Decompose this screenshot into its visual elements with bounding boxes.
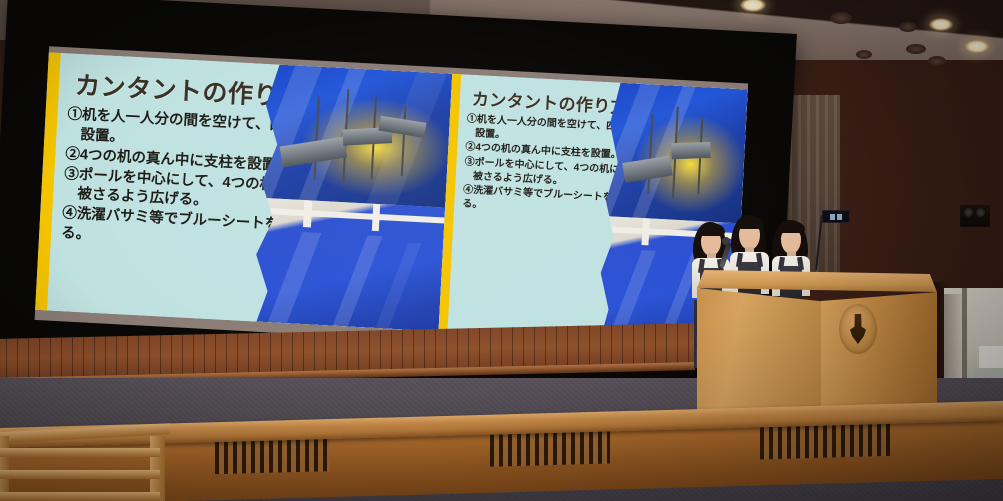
exit-sign-glyph-1 (830, 214, 835, 220)
podium-top (697, 270, 937, 292)
speaker-cone-right (976, 208, 985, 217)
auditorium-scene: カンタントの作り方 ①机を人一人分の間を空けて、四隅に 設置。 ②4つの机の真ん… (0, 0, 1003, 501)
speaker-cone-left (964, 208, 973, 217)
railing-slat-2 (0, 470, 160, 479)
fringe (698, 223, 725, 236)
railing-slat-1 (0, 448, 160, 457)
ceiling-light-on-2 (929, 18, 953, 31)
railing-slat-3 (0, 492, 160, 501)
tarp-interior-photo (601, 82, 748, 223)
exit-sign (822, 210, 850, 223)
ceiling-light-off-6 (928, 56, 946, 66)
ceiling-light-on-3 (965, 40, 989, 53)
slide-photos-left (249, 64, 452, 332)
school-crest-plaque (839, 304, 877, 354)
ceiling-light-off-2 (899, 22, 917, 32)
fringe (736, 216, 764, 229)
door-light-glow (979, 346, 1003, 368)
ceiling-light-on-1 (740, 0, 766, 12)
stage-side-railing (0, 418, 195, 501)
ceiling-light-off-1 (830, 12, 852, 24)
ceiling-light-off-4 (906, 44, 926, 54)
slide-panel-left: カンタントの作り方 ①机を人一人分の間を空けて、四隅に 設置。 ②4つの机の真ん… (35, 52, 452, 331)
fringe (778, 221, 805, 233)
exit-sign-glyph-2 (837, 214, 842, 220)
tarp-interior-photo (255, 64, 452, 208)
railing-cap (0, 423, 170, 443)
tarp-draped-photo (249, 198, 445, 332)
slide-body-left: カンタントの作り方 ①机を人一人分の間を空けて、四隅に 設置。 ②4つの机の真ん… (47, 53, 452, 331)
stage-vent-1 (215, 437, 330, 474)
stage-vent-2 (490, 429, 610, 466)
ceiling-light-off-5 (856, 50, 872, 59)
stage-vent-3 (760, 422, 890, 460)
crest-icon (850, 314, 866, 344)
wall-speaker (960, 205, 990, 227)
projected-slides: カンタントの作り方 ①机を人一人分の間を空けて、四隅に 設置。 ②4つの机の真ん… (35, 52, 748, 347)
